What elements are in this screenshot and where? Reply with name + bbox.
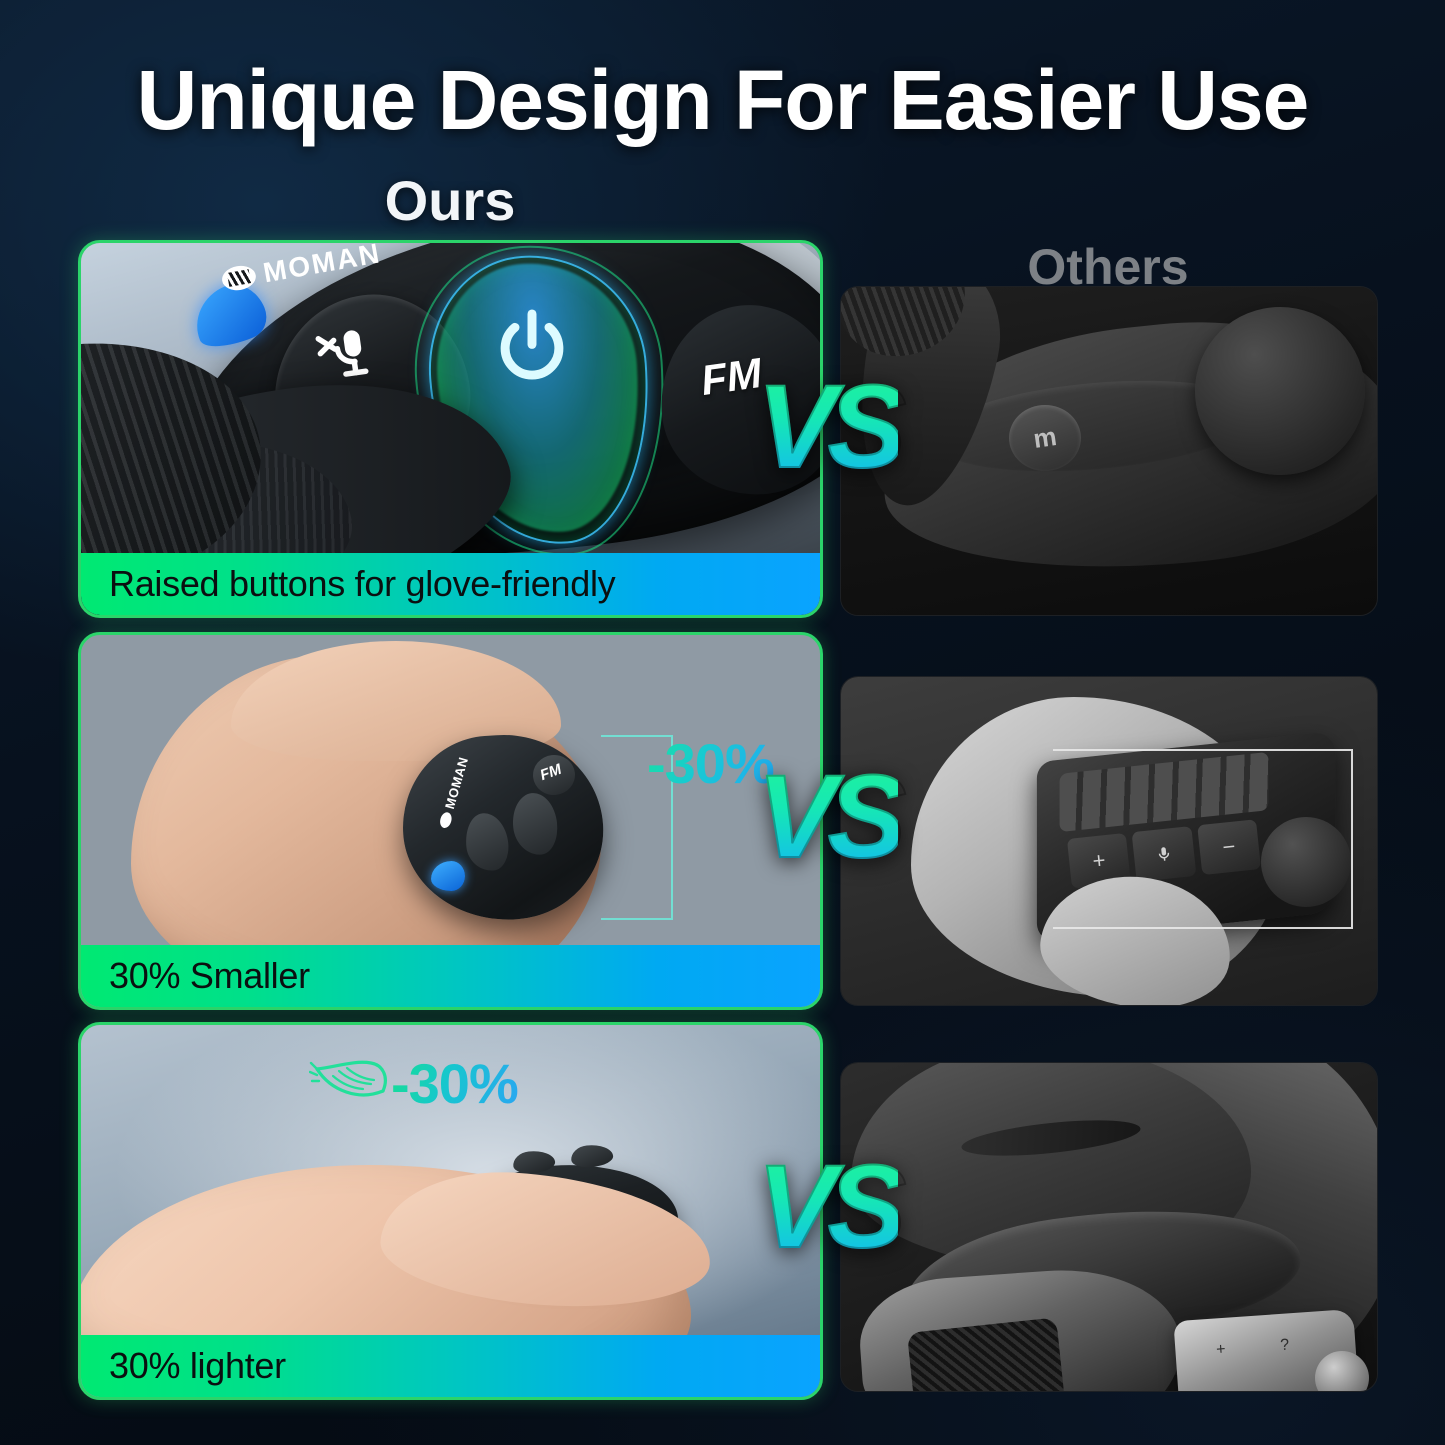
microphone-icon: ? (1256, 1335, 1313, 1361)
ours-photo-glove-pressing-button: MOMAN FM (81, 243, 820, 615)
ours-panel-raised-buttons[interactable]: MOMAN FM (78, 240, 823, 618)
measurement-bracket (1053, 749, 1353, 929)
others-photo-bulky-device: + − (841, 677, 1377, 1005)
plus-icon: + (1192, 1339, 1249, 1365)
power-icon (489, 305, 575, 391)
page-title: Unique Design For Easier Use (0, 52, 1445, 149)
ours-column-label: Ours (80, 168, 820, 233)
others-photo-flat-button (841, 287, 1377, 615)
ours-caption-text: Raised buttons for glove-friendly (81, 563, 615, 605)
ours-caption-bar: Raised buttons for glove-friendly (81, 553, 820, 615)
ours-caption-bar: 30% lighter (81, 1335, 820, 1397)
ours-photo-hand-holding-device: MOMAN FM -30% 30% Smaller (81, 635, 820, 1007)
vs-badge: VS (757, 758, 898, 876)
size-reduction-annotation: -30% (647, 731, 774, 796)
ours-caption-text: 30% lighter (81, 1345, 286, 1387)
ours-caption-bar: 30% Smaller (81, 945, 820, 1007)
moman-logo-mark (220, 263, 258, 293)
vs-badge: VS (757, 1148, 898, 1266)
vs-badge: VS (757, 368, 898, 486)
competitor-flat-button (1009, 405, 1081, 471)
others-panel-size[interactable]: + − (840, 676, 1378, 1006)
fm-button-label: FM (698, 349, 765, 405)
others-panel-weight[interactable]: + ? (840, 1062, 1378, 1392)
others-panel-raised-buttons[interactable] (840, 286, 1378, 616)
microphone-icon (309, 319, 377, 387)
ours-panel-weight[interactable]: -30% MOMAN 30% lighter (78, 1022, 823, 1400)
feather-icon (309, 1055, 391, 1113)
others-photo-rider-with-bulky-unit: + ? (841, 1063, 1377, 1391)
ours-photo-palm-with-device: -30% MOMAN 30% lighter (81, 1025, 820, 1397)
weight-reduction-annotation: -30% (391, 1051, 518, 1116)
competitor-dial (1195, 307, 1365, 475)
ours-caption-text: 30% Smaller (81, 955, 310, 997)
moman-logo-mark (438, 811, 453, 829)
ours-panel-size[interactable]: MOMAN FM -30% 30% Smaller (78, 632, 823, 1010)
